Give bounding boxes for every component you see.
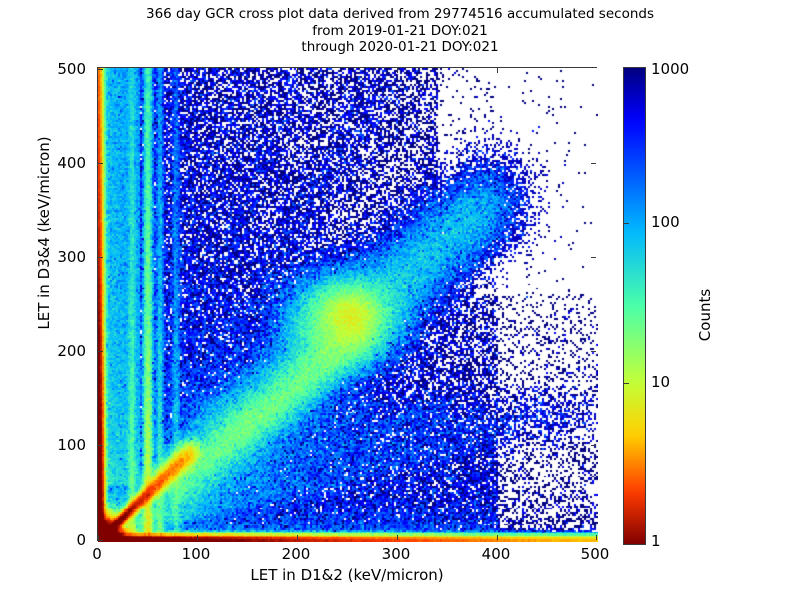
x-ticklabel-300: 300 [382, 545, 411, 563]
y-tick-right-200 [591, 351, 596, 352]
y-axis-title: LET in D3&4 (keV/micron) [35, 23, 53, 443]
y-tick-300 [98, 257, 103, 258]
x-tick-200 [297, 535, 298, 540]
x-ticklabel-100: 100 [182, 545, 211, 563]
colorbar-title: Counts [696, 195, 714, 435]
figure-canvas: 366 day GCR cross plot data derived from… [0, 0, 800, 600]
colorbar-ticklabel-10: 10 [651, 373, 670, 391]
y-tick-right-400 [591, 163, 596, 164]
density-heatmap [98, 68, 598, 542]
x-axis-title: LET in D1&2 (keV/micron) [97, 566, 597, 584]
y-ticklabel-0: 0 [0, 531, 86, 549]
title-line-3: through 2020-01-21 DOY:021 [0, 39, 800, 56]
y-tick-200 [98, 351, 103, 352]
y-tick-100 [98, 445, 103, 446]
x-ticklabel-500: 500 [581, 545, 610, 563]
x-tick-top-200 [297, 68, 298, 73]
y-tick-right-100 [591, 445, 596, 446]
x-ticklabel-200: 200 [282, 545, 311, 563]
x-ticklabel-400: 400 [482, 545, 511, 563]
y-tick-500 [98, 69, 103, 70]
colorbar-tick-10 [624, 383, 629, 384]
title-line-1: 366 day GCR cross plot data derived from… [0, 6, 800, 23]
colorbar-tick-100 [624, 223, 629, 224]
y-tick-0 [98, 540, 103, 541]
y-tick-400 [98, 163, 103, 164]
colorbar-ticklabel-1: 1 [651, 532, 661, 550]
x-tick-top-400 [497, 68, 498, 73]
title-line-2: from 2019-01-21 DOY:021 [0, 23, 800, 40]
colorbar-ticklabel-100: 100 [651, 213, 680, 231]
colorbar [623, 67, 646, 545]
plot-area [97, 67, 597, 541]
x-tick-top-100 [197, 68, 198, 73]
y-tick-right-300 [591, 257, 596, 258]
x-tick-top-300 [397, 68, 398, 73]
chart-title: 366 day GCR cross plot data derived from… [0, 6, 800, 56]
x-ticklabel-0: 0 [92, 545, 102, 563]
colorbar-ticklabel-1000: 1000 [651, 60, 689, 78]
x-tick-100 [197, 535, 198, 540]
x-tick-300 [397, 535, 398, 540]
colorbar-gradient [624, 68, 645, 544]
x-tick-400 [497, 535, 498, 540]
x-tick-500 [596, 535, 597, 540]
